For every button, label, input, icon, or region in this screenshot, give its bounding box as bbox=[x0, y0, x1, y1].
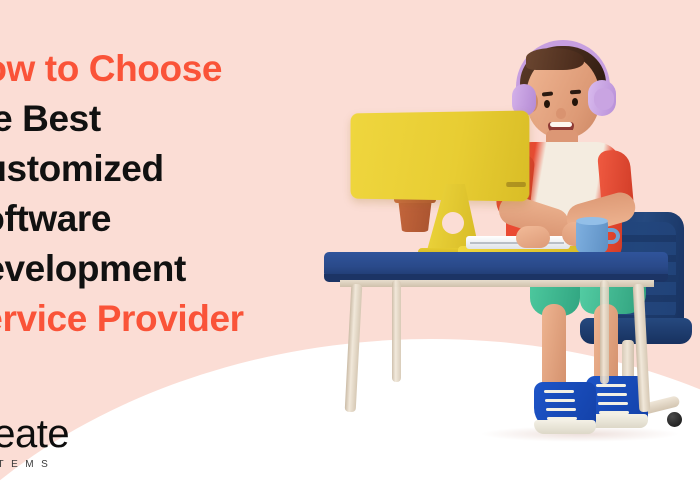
headline: How to Choose the Best Customized Softwa… bbox=[0, 44, 378, 344]
headline-line-4: Software bbox=[0, 194, 378, 244]
monitor-logo bbox=[506, 182, 526, 187]
headline-line-6: Service Provider bbox=[0, 294, 378, 344]
desk-leg-back-right bbox=[600, 280, 609, 384]
hero-illustration bbox=[330, 30, 700, 450]
brand-logo-subtitle: SYSTEMS bbox=[0, 459, 69, 470]
brand-logo[interactable]: Create SYSTEMS bbox=[0, 414, 69, 470]
blog-banner: How to Choose the Best Customized Softwa… bbox=[0, 0, 700, 500]
brand-logo-wordmark: Create bbox=[0, 414, 69, 454]
headline-line-2: the Best bbox=[0, 94, 378, 144]
sneaker-left-sole bbox=[534, 420, 596, 434]
headphones-earpad-right bbox=[594, 88, 614, 110]
person-nose bbox=[556, 108, 566, 119]
coffee-mug-rim bbox=[576, 217, 608, 225]
headline-line-1: How to Choose bbox=[0, 44, 378, 94]
person-eye-right bbox=[572, 98, 578, 106]
person-hand-left bbox=[516, 226, 550, 248]
headline-line-3: Customized bbox=[0, 144, 378, 194]
monitor-stand-cutout bbox=[442, 212, 464, 234]
person-eye-left bbox=[544, 100, 550, 108]
person-teeth bbox=[550, 122, 572, 127]
person-eyebrow-right bbox=[570, 90, 581, 95]
headline-line-5: Development bbox=[0, 244, 378, 294]
office-chair-caster-right bbox=[667, 412, 682, 427]
desk-leg-back-left bbox=[392, 280, 401, 382]
plant-pot bbox=[398, 198, 432, 232]
person-hair-highlight bbox=[526, 48, 584, 70]
